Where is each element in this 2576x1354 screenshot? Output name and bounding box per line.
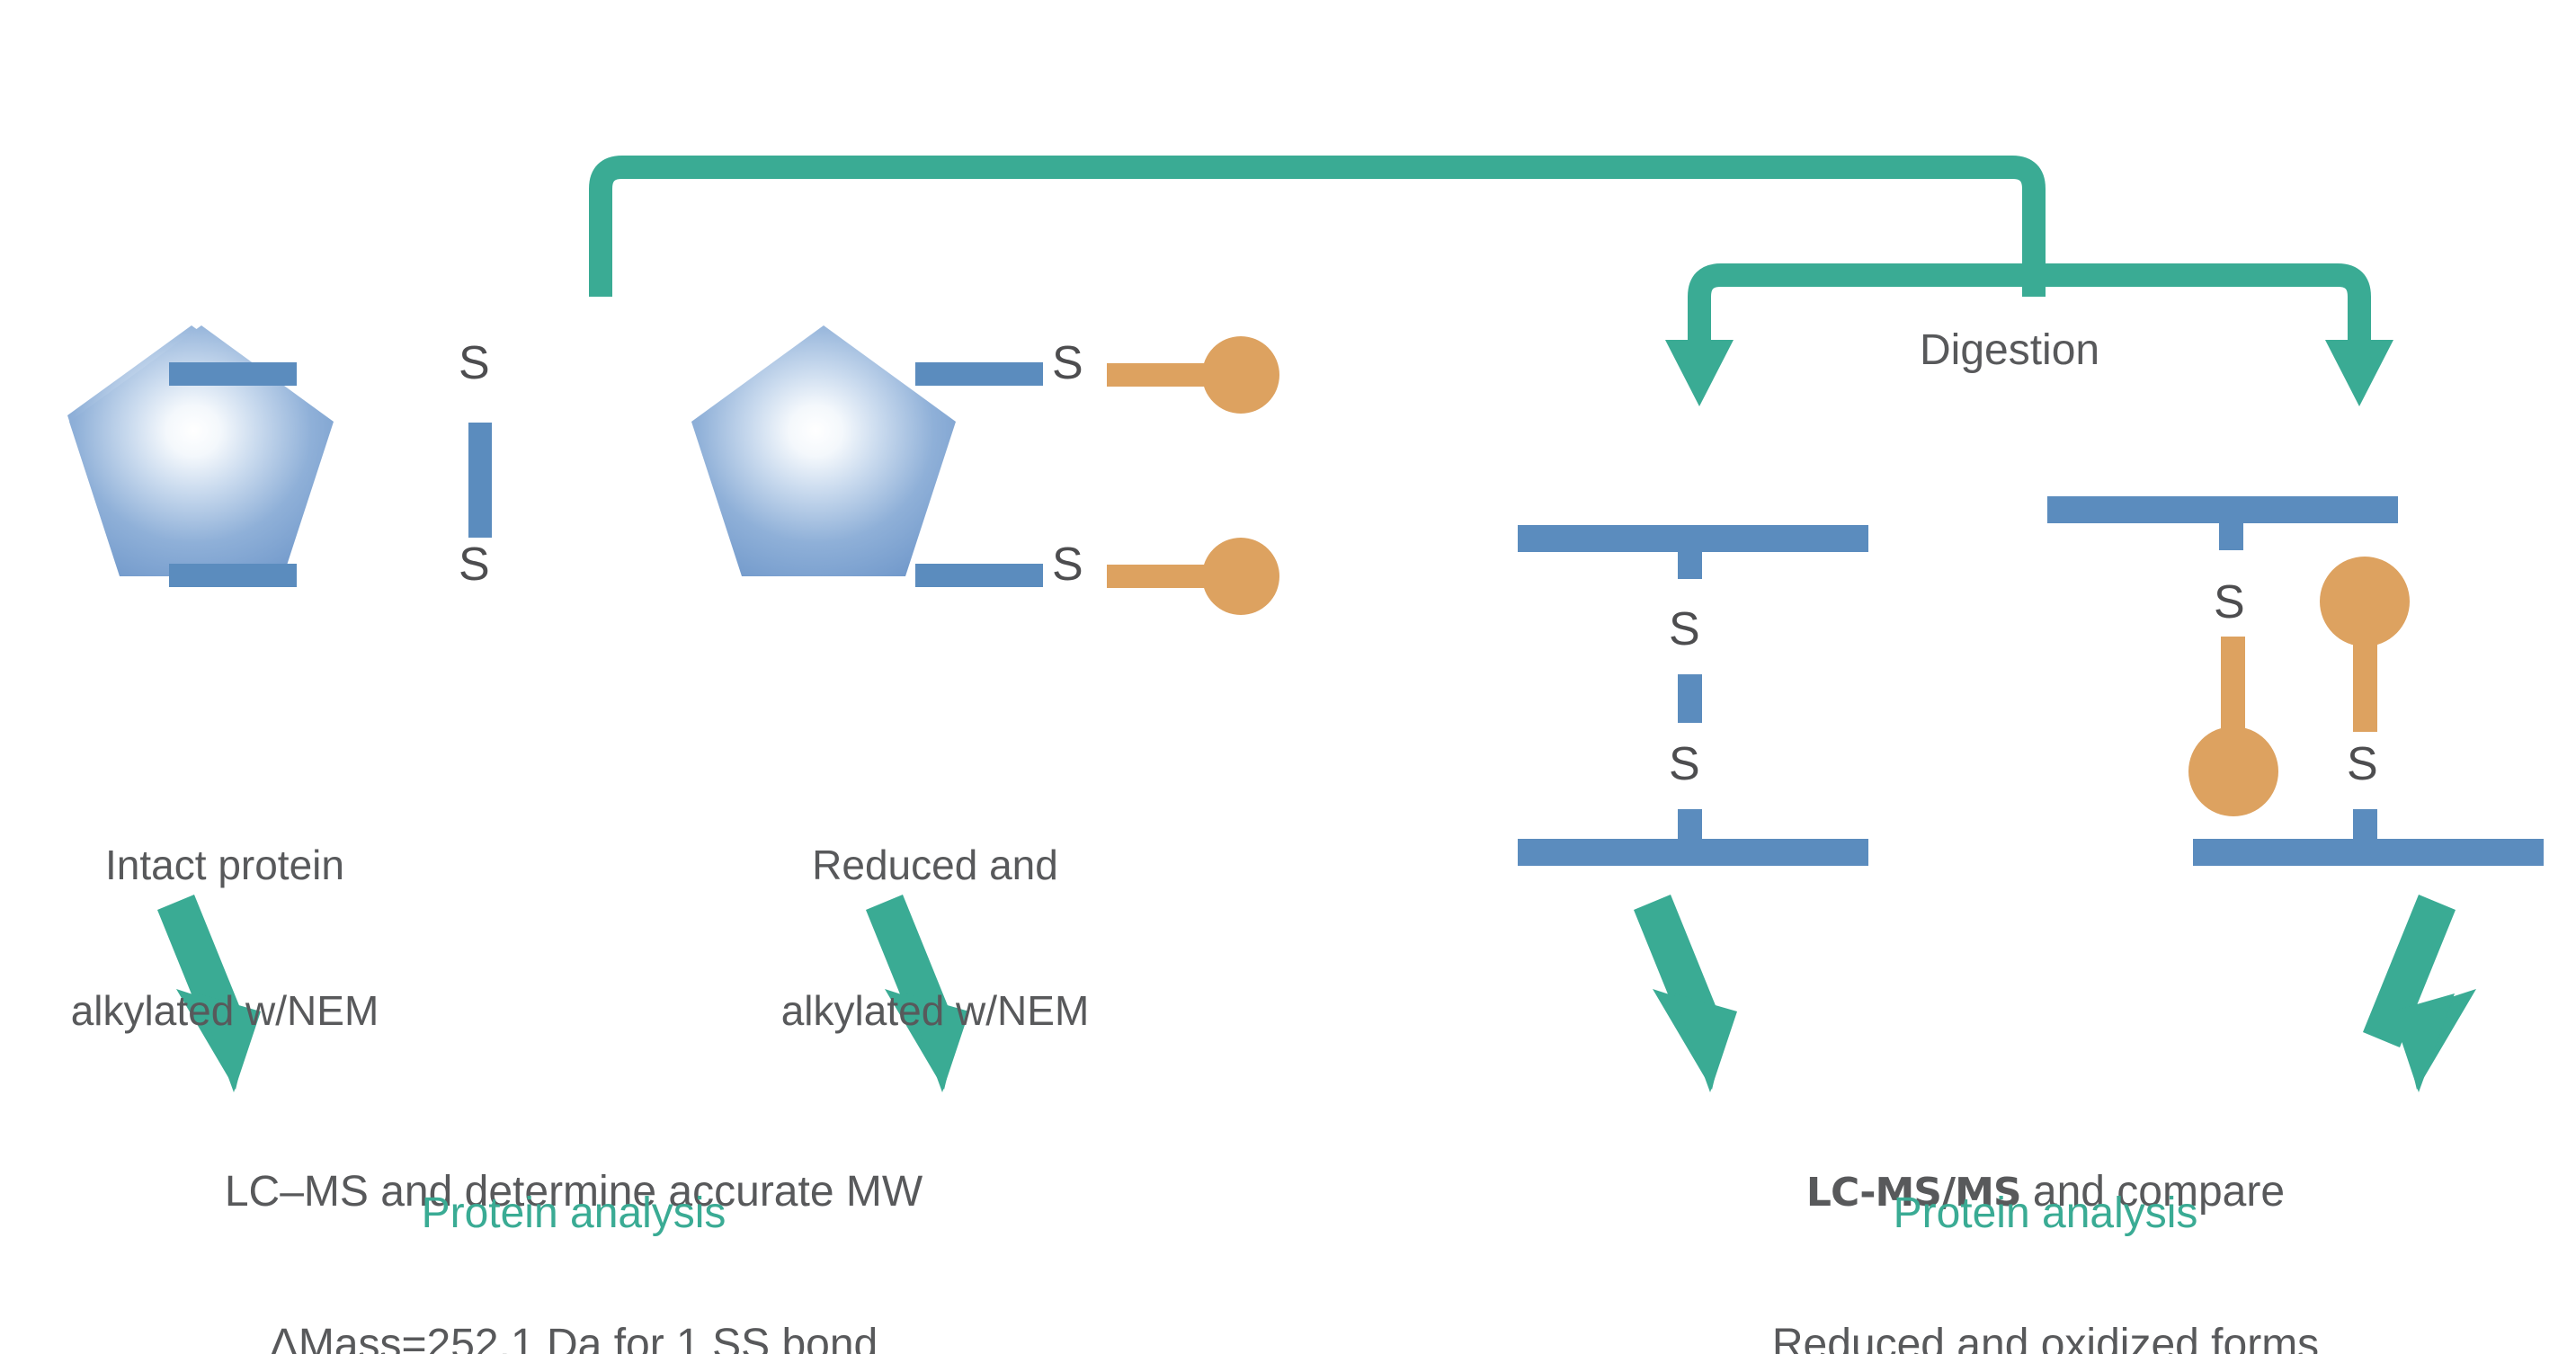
result-arrow-oxidized xyxy=(1634,895,1737,1092)
sulfur-label-reduced-bottom: S xyxy=(1052,538,1083,592)
sulfur-label-reduced-peptide-top: S xyxy=(2214,575,2245,630)
sulfur-label-oxidized-top: S xyxy=(1669,602,1700,657)
intact-protein-structure xyxy=(67,325,492,587)
caption-reduced-line2: alkylated w/NEM xyxy=(656,986,1214,1035)
nem-ball-down-reduced xyxy=(2188,726,2278,816)
diagram-canvas: S S S S S S S S Digestion Intact protein… xyxy=(0,0,2576,1354)
oxidized-peptide-structure xyxy=(1518,525,1868,866)
caption-intact-line1: Intact protein xyxy=(0,841,504,889)
sulfur-label-oxidized-bottom: S xyxy=(1669,737,1700,792)
peptide-bar-bottom-oxidized xyxy=(1518,839,1868,866)
cys-arm-top-reduced xyxy=(915,362,1043,386)
protein-analysis-label-left: Protein analysis xyxy=(259,1189,888,1240)
result-digested-line2: Reduced and oxidized forms xyxy=(1551,1320,2540,1354)
result-arrow-reduced-peptide xyxy=(2363,895,2476,1092)
result-intact-line2: ΔMass=252.1 Da for 1 SS bond xyxy=(79,1320,1068,1354)
caption-intact-line2: alkylated w/NEM xyxy=(0,986,504,1035)
cys-arm-bottom-intact xyxy=(169,564,297,587)
nem-ball-top-reduced xyxy=(1202,336,1279,414)
cys-stub-top-oxidized xyxy=(1678,525,1702,579)
sulfur-label-reduced-top: S xyxy=(1052,336,1083,391)
nem-ball-bottom-reduced xyxy=(1202,538,1279,615)
cys-stub-top-reduced xyxy=(2219,496,2243,550)
sulfur-label-reduced-peptide-bottom: S xyxy=(2347,737,2378,792)
nem-stem-up-reduced xyxy=(2353,601,2377,732)
protein-analysis-label-right: Protein analysis xyxy=(1731,1189,2360,1240)
cys-arm-top-intact xyxy=(169,362,297,386)
nem-stem-down-reduced xyxy=(2221,637,2245,735)
sulfur-label-intact-bottom: S xyxy=(459,538,490,592)
disulfide-bridge-intact xyxy=(468,423,492,538)
peptide-bar-bottom-reduced xyxy=(2193,839,2544,866)
sulfur-label-intact-top: S xyxy=(459,336,490,391)
reduced-protein-structure xyxy=(691,325,1279,615)
disulfide-segment-oxidized xyxy=(1678,674,1702,723)
cys-arm-bottom-reduced xyxy=(915,564,1043,587)
caption-reduced-line1: Reduced and xyxy=(656,841,1214,889)
reduced-peptide-structure xyxy=(2047,496,2544,866)
digestion-label: Digestion xyxy=(1920,325,2099,377)
